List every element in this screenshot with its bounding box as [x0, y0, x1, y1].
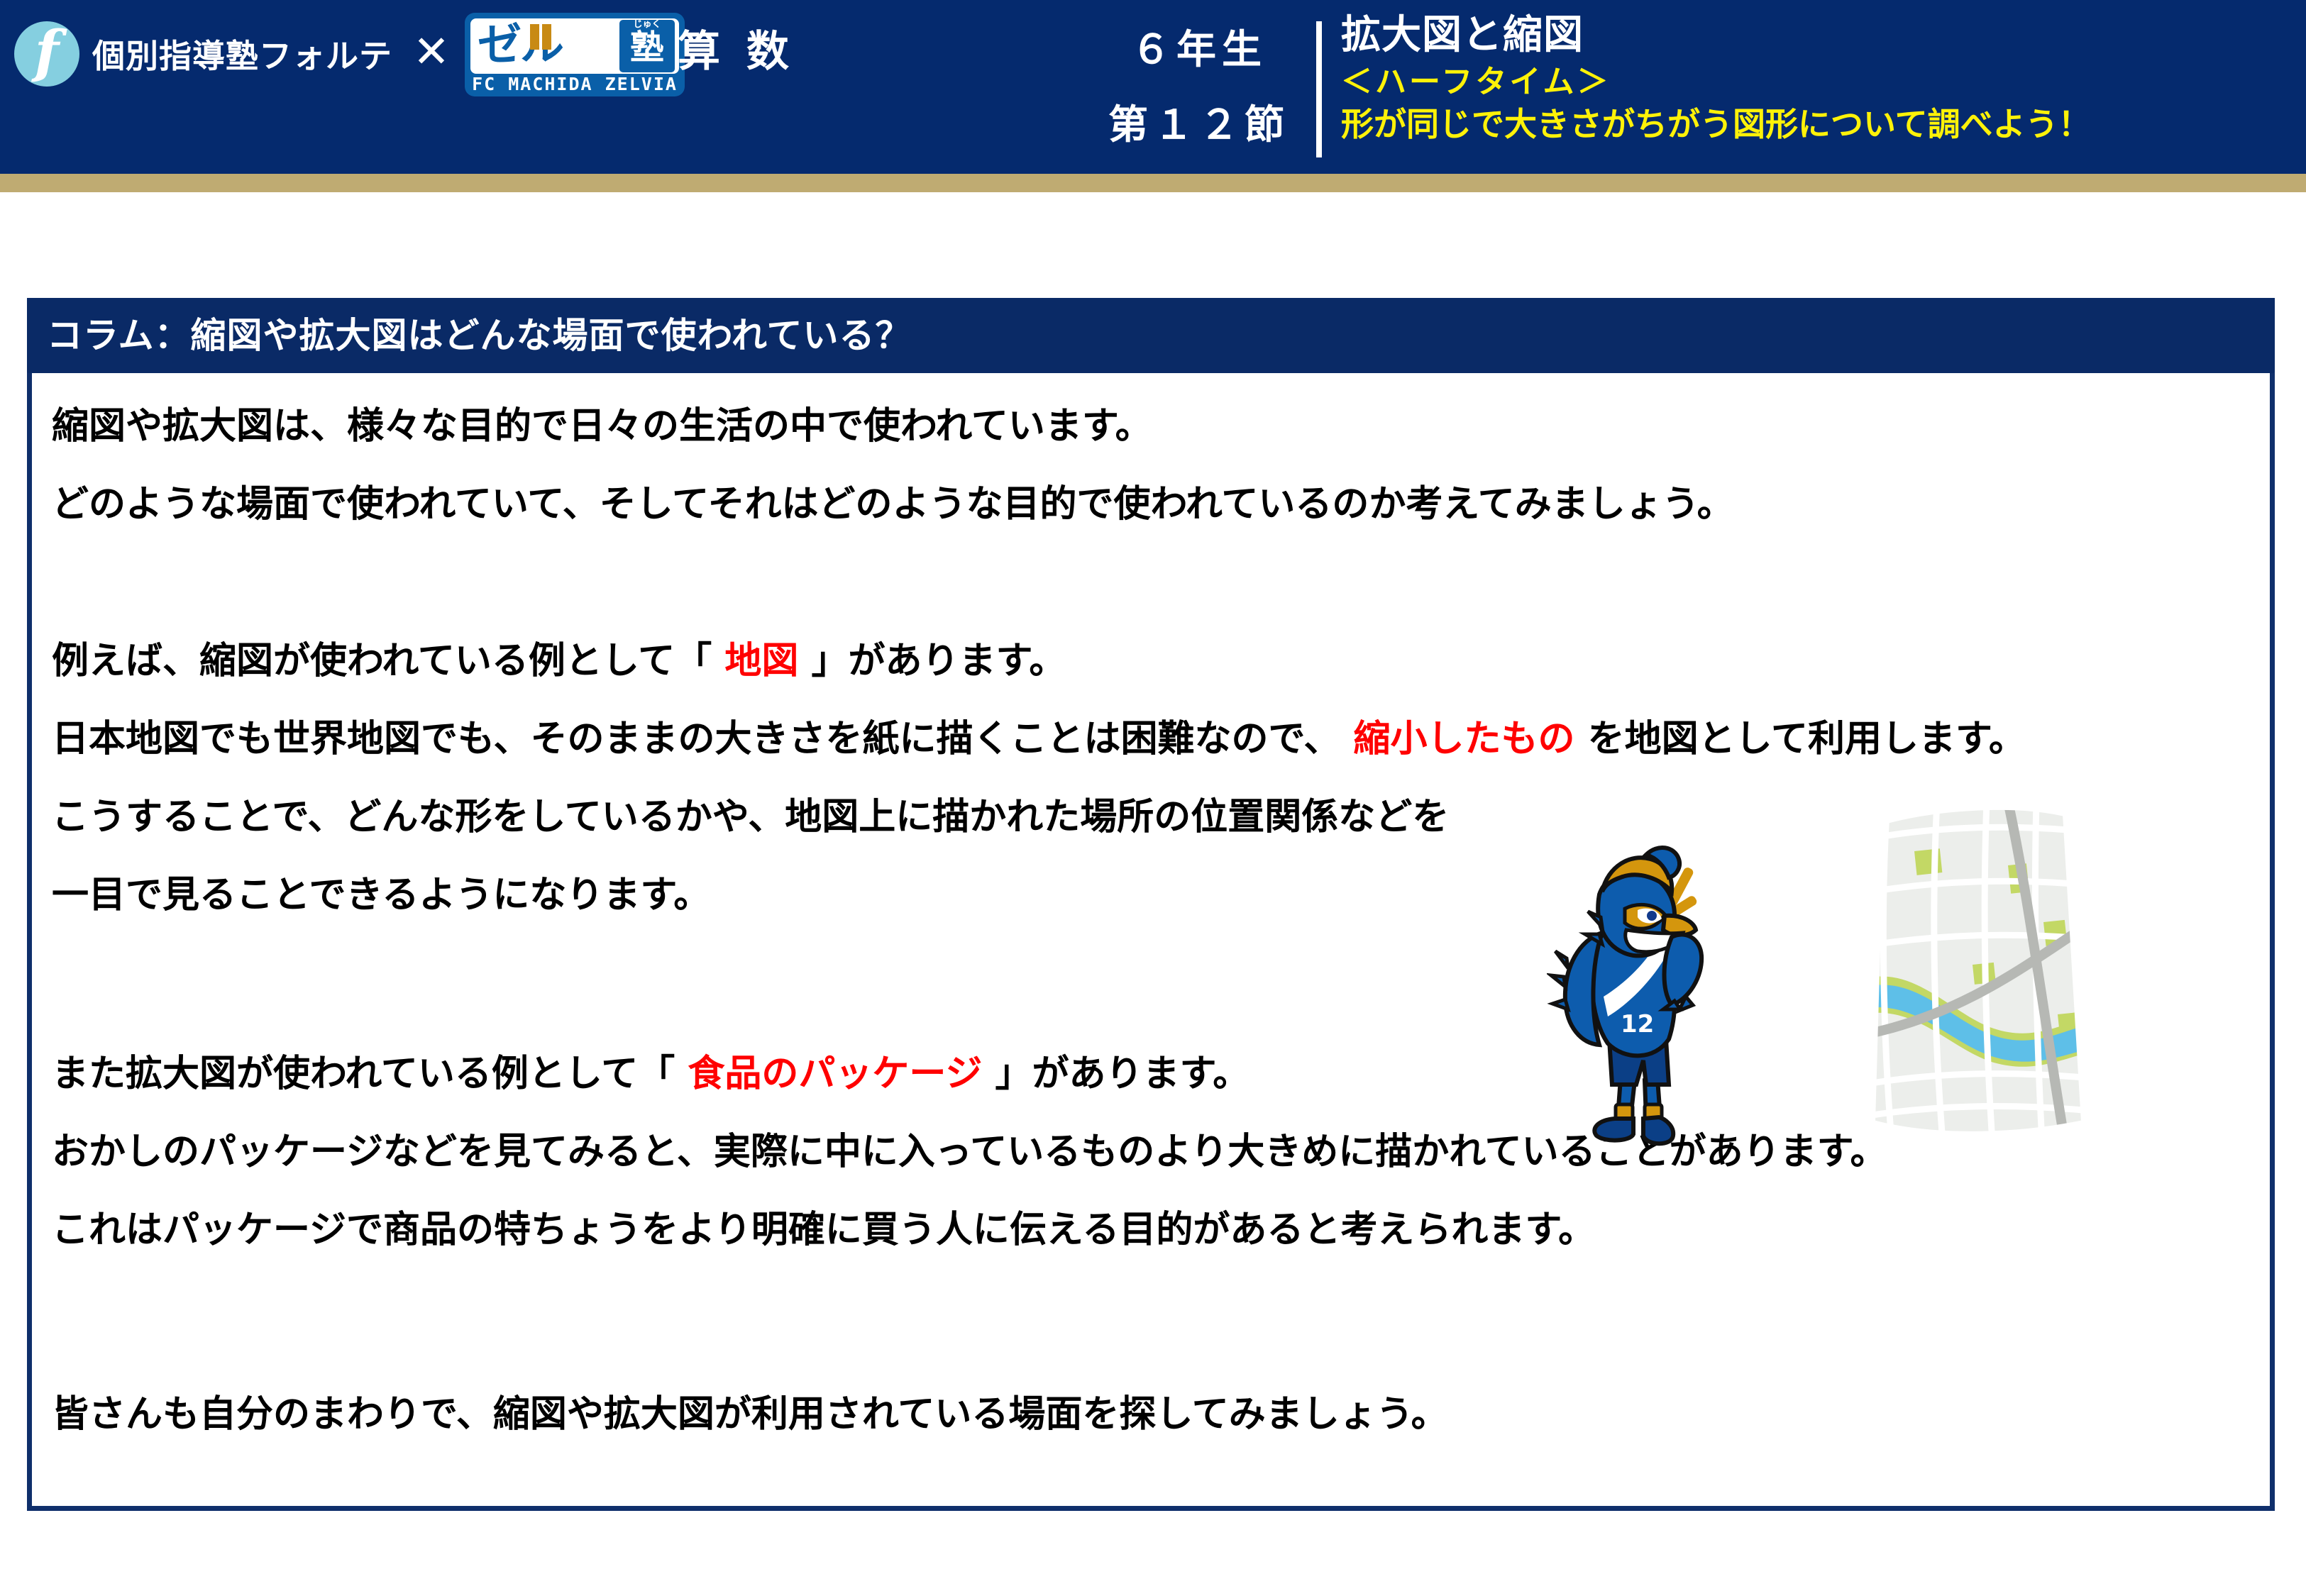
text-segment-highlight: 食品のパッケージ — [688, 1053, 982, 1095]
text-segment: また拡大図が使われている例として「 — [52, 1053, 675, 1095]
paragraph-line: 日本地図でも世界地図でも、そのままの大きさを紙に描くことは困難なので、 縮小した… — [52, 721, 2026, 758]
topic-block: 拡大図と縮図 ＜ハーフタイム＞ 形が同じで大きさがちがう図形について調べよう！ — [1341, 10, 2292, 145]
zelvia-bird-mascot-icon: 12 — [1547, 826, 1760, 1160]
grade-label: ６年生 — [1093, 13, 1306, 88]
zelvia-logo: ゼル じゅく 塾 FC MACHIDA ZELVIA — [465, 13, 685, 96]
header-divider — [1316, 21, 1322, 157]
text-segment: 」があります。 — [812, 640, 1066, 682]
collab-cross-icon: ✕ — [413, 30, 450, 74]
text-segment: これはパッケージで商品の特ちょうをより明確に買う人に伝える目的があると考えられま… — [52, 1209, 1595, 1251]
grade-section-block: ６年生 第１２節 — [1093, 13, 1306, 163]
zelvia-logo-plate: ゼル じゅく 塾 — [470, 18, 679, 74]
text-segment: を地図として利用します。 — [1588, 718, 2026, 760]
column-panel-title: コラム：縮図や拡大図はどんな場面で使われている？ — [47, 298, 912, 373]
zelvia-club-label: FC MACHIDA ZELVIA — [465, 74, 685, 94]
section-label: 第１２節 — [1093, 88, 1306, 163]
column-panel-header: コラム：縮図や拡大図はどんな場面で使われている？ — [27, 298, 2275, 373]
paragraph-line: また拡大図が使われている例として「 食品のパッケージ 」があります。 — [52, 1055, 1249, 1092]
paragraph-line: 皆さんも自分のまわりで、縮図や拡大図が利用されている場面を探してみましょう。 — [52, 1396, 1448, 1433]
paragraph-line: 例えば、縮図が使われている例として「 地図 」があります。 — [52, 643, 1066, 680]
forte-brand-label: 個別指導塾フォルテ — [92, 31, 392, 77]
zelvia-juku-ruby: じゅく — [619, 18, 675, 31]
text-segment: 日本地図でも世界地図でも、そのままの大きさを紙に描くことは困難なので、 — [52, 718, 1340, 760]
paragraph-line: 一目で見ることできるようになります。 — [52, 877, 710, 914]
topic-title: 拡大図と縮図 — [1341, 10, 2292, 61]
paragraph-line: どのような場面で使われていて、そしてそれはどのような目的で使われているのか考えて… — [52, 486, 1734, 523]
paragraph-line: こうすることで、どんな形をしているかや、地図上に描かれた場所の位置関係などを — [52, 799, 1449, 836]
subject-label: 算 数 — [678, 17, 795, 79]
text-segment: こうすることで、どんな形をしているかや、地図上に描かれた場所の位置関係などを — [52, 796, 1449, 838]
text-segment: 」があります。 — [995, 1053, 1249, 1095]
forte-f-icon: f — [14, 21, 79, 87]
text-segment: 一目で見ることできるようになります。 — [52, 874, 710, 916]
page-header: f 個別指導塾フォルテ ✕ ゼル じゅく 塾 FC MACHIDA ZELVIA… — [0, 0, 2306, 174]
text-segment: 皆さんも自分のまわりで、縮図や拡大図が利用されている場面を探してみましょう。 — [52, 1393, 1448, 1436]
topic-halftime-label: ＜ハーフタイム＞ — [1341, 61, 2292, 104]
paragraph-line: 縮図や拡大図は、様々な目的で日々の生活の中で使われています。 — [52, 408, 1152, 445]
text-segment: どのような場面で使われていて、そしてそれはどのような目的で使われているのか考えて… — [52, 483, 1734, 526]
paragraph-line: これはパッケージで商品の特ちょうをより明確に買う人に伝える目的があると考えられま… — [52, 1212, 1595, 1248]
forte-logo: f 個別指導塾フォルテ — [14, 21, 392, 87]
header-gold-band — [0, 174, 2306, 192]
topic-goal-label: 形が同じで大きさがちがう図形について調べよう！ — [1341, 104, 2292, 145]
mascot-wing-front — [1665, 934, 1702, 1005]
zelvia-juku-label: じゅく 塾 — [619, 20, 675, 72]
text-segment-highlight: 縮小したもの — [1353, 718, 1574, 760]
zelvia-accent-bar-1 — [530, 24, 539, 50]
mascot-pupil — [1647, 911, 1657, 921]
text-segment: 例えば、縮図が使われている例として「 — [52, 640, 712, 682]
zelvia-accent-bar-2 — [542, 24, 551, 50]
illustration-group: 12 — [1547, 802, 2107, 1177]
zelvia-juku-char: 塾 — [630, 28, 664, 67]
text-segment: 縮図や拡大図は、様々な目的で日々の生活の中で使われています。 — [52, 405, 1152, 448]
city-map-paper-icon — [1831, 802, 2100, 1142]
text-segment-highlight: 地図 — [724, 640, 798, 682]
mascot-jersey-number: 12 — [1621, 1010, 1654, 1038]
